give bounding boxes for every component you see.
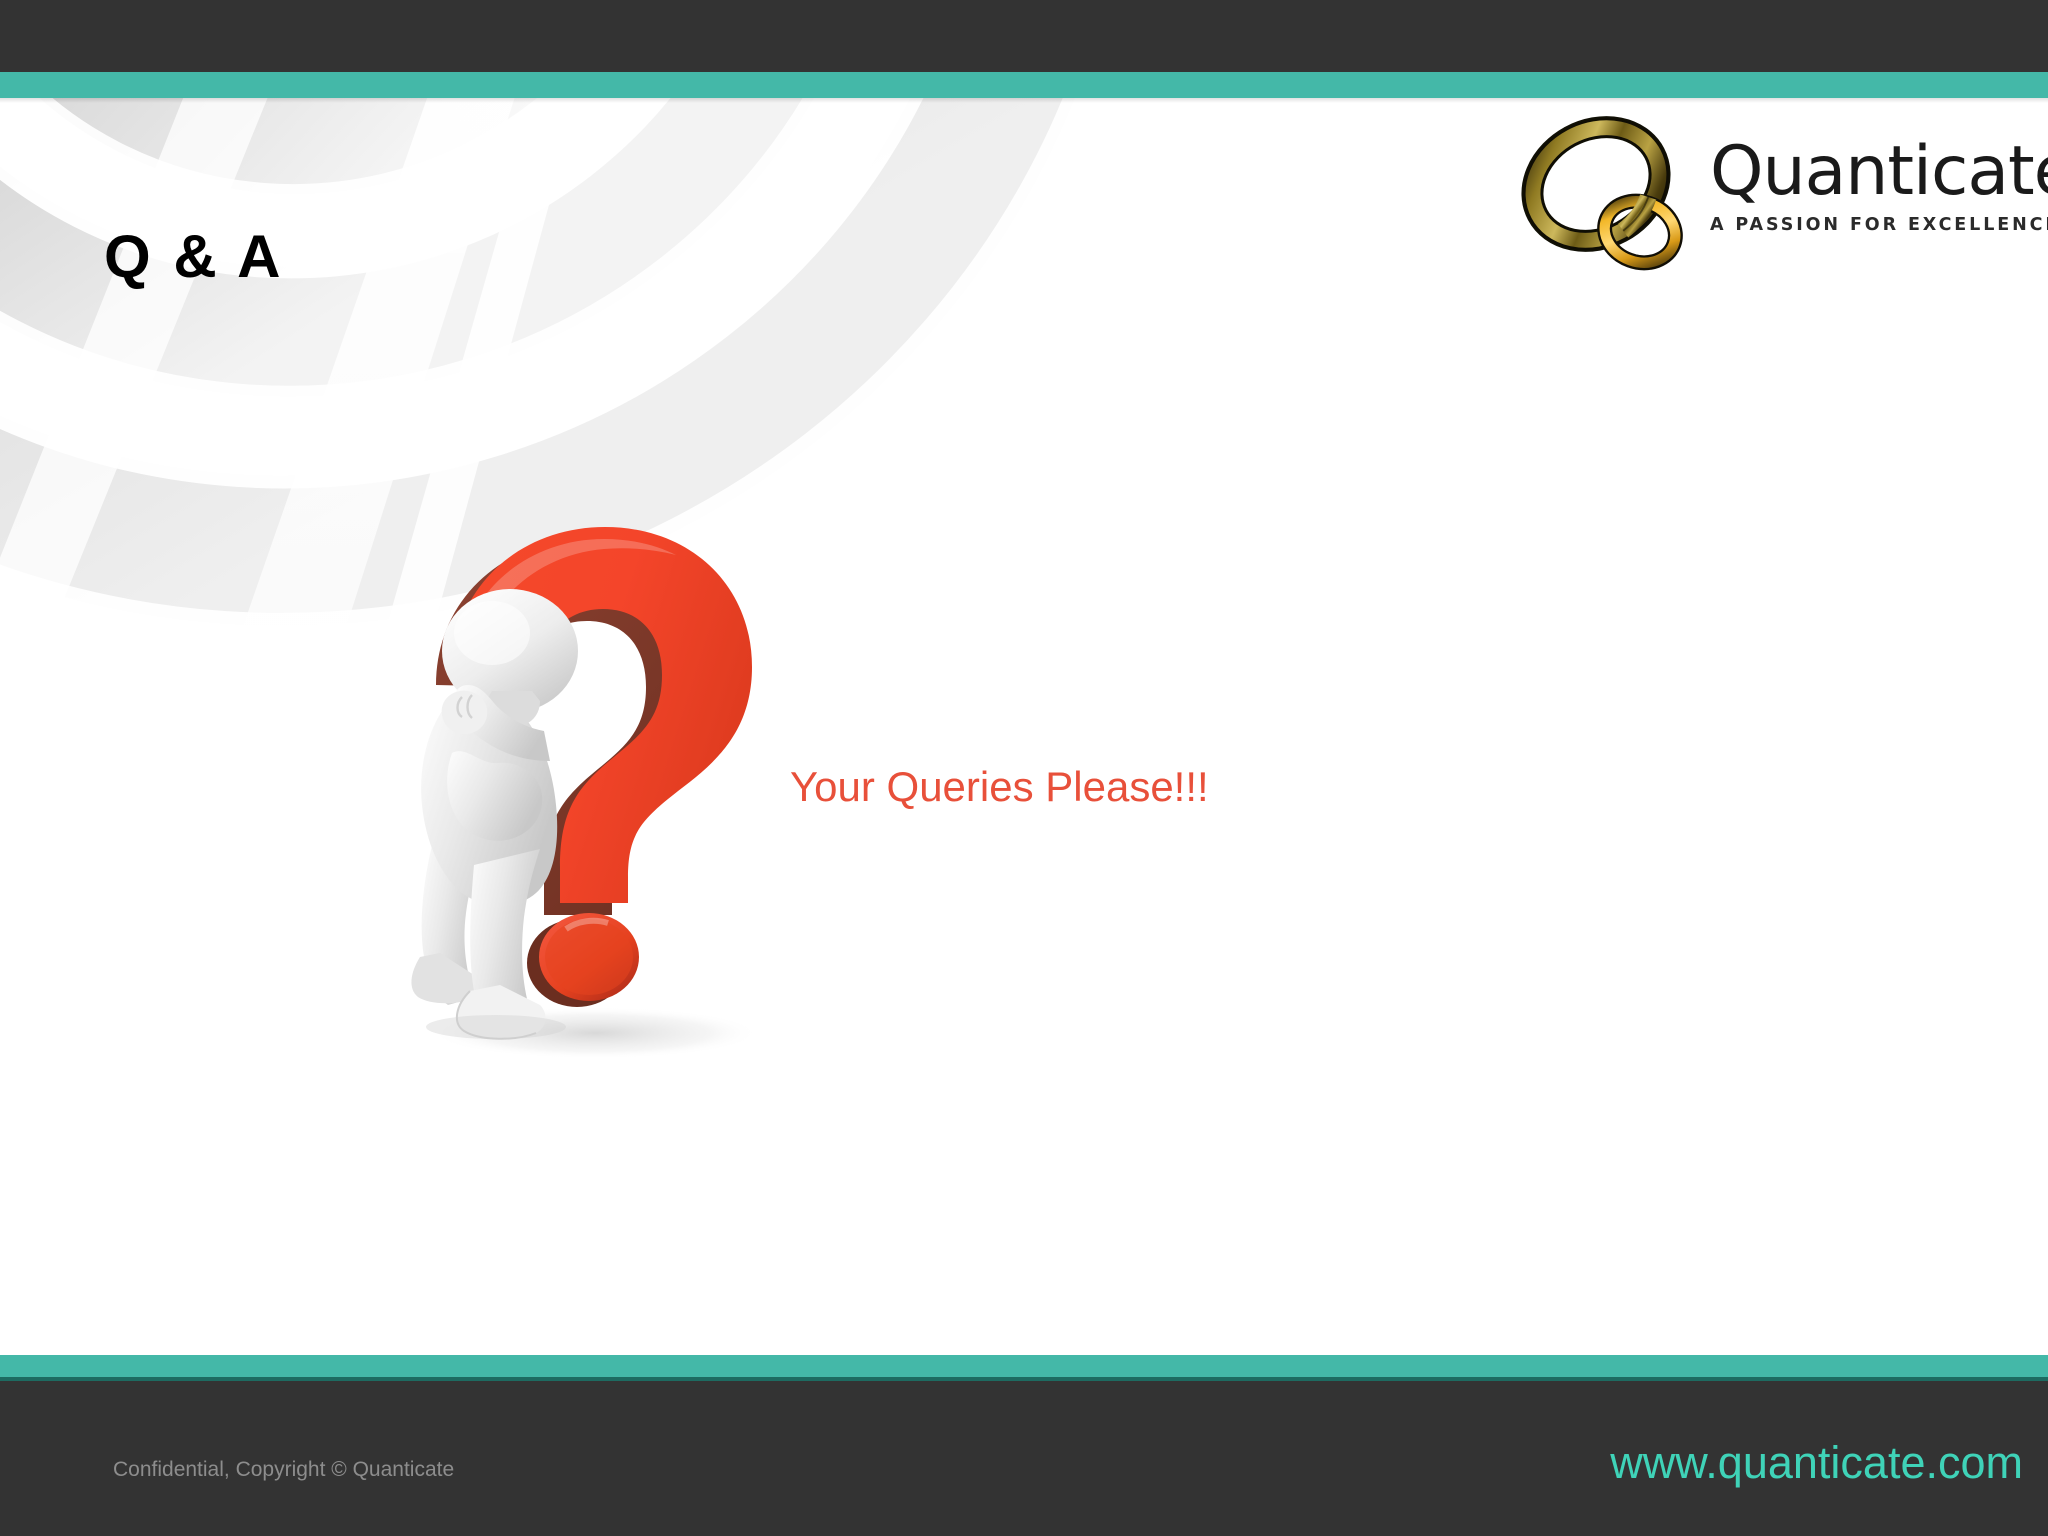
header-teal-accent-band [0,72,2048,98]
header-dark-band [0,0,2048,72]
logo-text-group: Quanticate A PASSION FOR EXCELLENCE [1710,138,2030,235]
question-mark-figure-icon [400,505,820,1065]
logo-wordmark: Quanticate [1710,138,2030,206]
slide-canvas: Q & A [0,0,2048,1536]
logo-tagline: A PASSION FOR EXCELLENCE [1710,215,2030,235]
footer-website-link[interactable]: www.quanticate.com [1610,1437,2023,1489]
page-title: Q & A [104,222,283,291]
header-band-shadow [0,98,2048,103]
brand-logo[interactable]: Quanticate A PASSION FOR EXCELLENCE [1510,110,2030,285]
callout-text: Your Queries Please!!! [790,763,1209,811]
footer-teal-accent-band [0,1355,2048,1379]
footer-copyright-text: Confidential, Copyright © Quanticate [113,1458,454,1482]
footer-teal-edge [0,1377,2048,1381]
interlocking-gold-rings-icon [1510,110,1710,285]
